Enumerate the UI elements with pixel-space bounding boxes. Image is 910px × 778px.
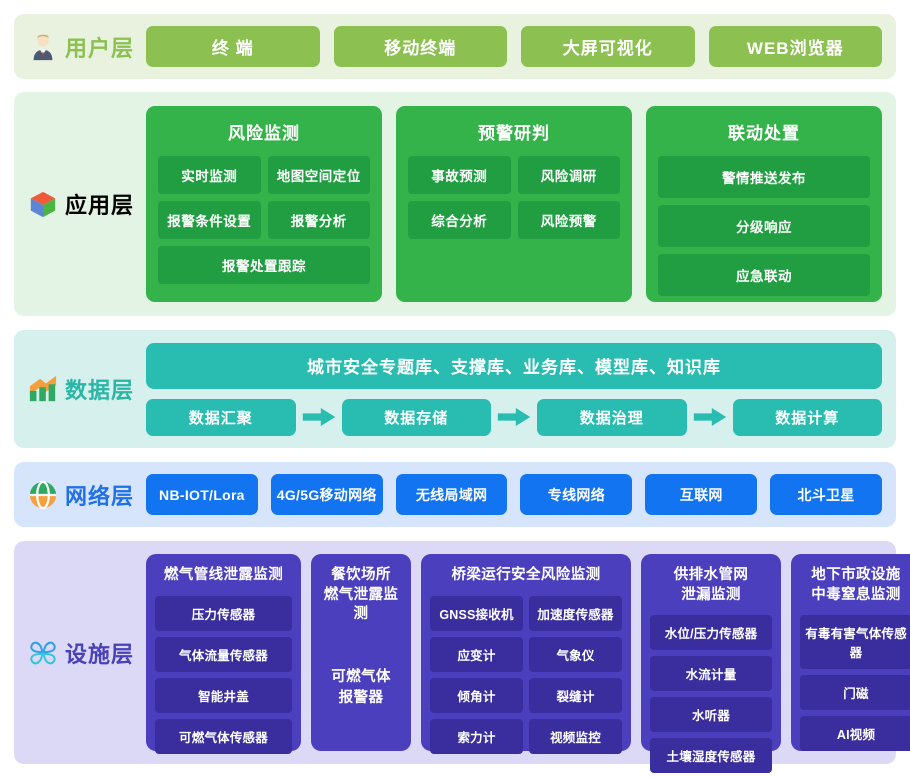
layer-band-application: 应用层 风险监测 实时监测 地图空间定位 报警条件设置 报警分析 报警处置跟踪 … <box>14 92 896 316</box>
network-chip-wireless-lan[interactable]: 无线局域网 <box>396 474 508 515</box>
network-chip-list: NB-IOT/Lora 4G/5G移动网络 无线局域网 专线网络 互联网 北斗卫… <box>146 474 896 515</box>
facility-item-soil-moisture-sensor[interactable]: 土壤湿度传感器 <box>650 738 772 773</box>
network-chip-internet[interactable]: 互联网 <box>645 474 757 515</box>
data-flow-row: 数据汇聚 数据存储 数据治理 数据 <box>146 399 882 436</box>
facility-item-door-magnet[interactable]: 门磁 <box>800 675 910 710</box>
cube-icon <box>28 189 58 219</box>
data-repository-bar[interactable]: 城市安全专题库、支撑库、业务库、模型库、知识库 <box>146 343 882 389</box>
data-node-storage[interactable]: 数据存储 <box>342 399 492 436</box>
app-subitem-grid: 事故预测 风险调研 综合分析 风险预警 <box>408 156 620 239</box>
network-chip-beidou-satellite[interactable]: 北斗卫星 <box>770 474 882 515</box>
facility-item-list: 压力传感器 气体流量传感器 智能井盖 可燃气体传感器 <box>155 596 292 754</box>
facility-item-water-flow-metering[interactable]: 水流计量 <box>650 656 772 691</box>
layer-band-data: 数据层 城市安全专题库、支撑库、业务库、模型库、知识库 数据汇聚 数据存储 数据… <box>14 330 896 448</box>
layer-band-user: 用户层 终 端 移动终端 大屏可视化 WEB浏览器 <box>14 14 896 79</box>
layer-label-user-text: 用户层 <box>65 31 134 63</box>
facility-item-video-surveillance[interactable]: 视频监控 <box>529 719 622 754</box>
data-node-computation[interactable]: 数据计算 <box>733 399 883 436</box>
user-chip-terminal[interactable]: 终 端 <box>146 26 320 67</box>
facility-column-title: 燃气管线泄露监测 <box>155 563 292 590</box>
facility-item-list: GNSS接收机 加速度传感器 应变计 气象仪 倾角计 裂缝计 索力计 视频监控 <box>430 596 622 754</box>
layer-label-facility-text: 设施层 <box>65 637 134 669</box>
layer-label-network: 网络层 <box>14 479 146 511</box>
flow-arrow-right-icon <box>296 406 342 428</box>
facility-column-underground-municipal-poisoning-asphyxia-monitoring: 地下市政设施中毒窒息监测 有毒有害气体传感器 门磁 AI视频 <box>791 554 910 751</box>
layer-band-facility: 设施层 燃气管线泄露监测 压力传感器 气体流量传感器 智能井盖 可燃气体传感器 … <box>14 541 896 764</box>
app-item-risk-research[interactable]: 风险调研 <box>518 156 621 194</box>
app-column-title: 联动处置 <box>658 115 870 149</box>
data-layer-content: 城市安全专题库、支撑库、业务库、模型库、知识库 数据汇聚 数据存储 数据治理 <box>146 332 896 447</box>
facility-item-gas-flow-sensor[interactable]: 气体流量传感器 <box>155 637 292 672</box>
flow-arrow-right-icon <box>491 406 537 428</box>
facility-item-ai-video[interactable]: AI视频 <box>800 716 910 751</box>
facility-item-weather-instrument[interactable]: 气象仪 <box>529 637 622 672</box>
data-node-governance[interactable]: 数据治理 <box>537 399 687 436</box>
facility-item-water-level-pressure-sensor[interactable]: 水位/压力传感器 <box>650 615 772 650</box>
facility-item-acceleration-sensor[interactable]: 加速度传感器 <box>529 596 622 631</box>
app-column-title: 风险监测 <box>158 115 370 149</box>
bar-chart-icon <box>28 374 58 404</box>
data-node-aggregation[interactable]: 数据汇聚 <box>146 399 296 436</box>
facility-column-title: 供排水管网泄漏监测 <box>650 563 772 609</box>
clover-icon <box>28 638 58 668</box>
network-chip-4g-5g-mobile[interactable]: 4G/5G移动网络 <box>271 474 383 515</box>
facility-column-water-supply-drainage-leak-monitoring: 供排水管网泄漏监测 水位/压力传感器 水流计量 水听器 土壤湿度传感器 <box>641 554 781 751</box>
layer-label-user: 用户层 <box>14 31 146 63</box>
app-item-realtime-monitoring[interactable]: 实时监测 <box>158 156 261 194</box>
user-avatar-icon <box>28 32 58 62</box>
flow-arrow-right-icon <box>687 406 733 428</box>
facility-item-toxic-harmful-gas-sensor[interactable]: 有毒有害气体传感器 <box>800 615 910 669</box>
app-column-early-warning-judgment: 预警研判 事故预测 风险调研 综合分析 风险预警 <box>396 106 632 302</box>
app-subitem-grid: 警情推送发布 分级响应 应急联动 <box>658 156 870 296</box>
facility-item-list: 水位/压力传感器 水流计量 水听器 土壤湿度传感器 <box>650 615 772 773</box>
facility-column-title: 餐饮场所燃气泄露监测 <box>320 563 402 629</box>
layer-label-network-text: 网络层 <box>65 479 134 511</box>
app-item-alarm-push-release[interactable]: 警情推送发布 <box>658 156 870 198</box>
facility-item-gnss-receiver[interactable]: GNSS接收机 <box>430 596 523 631</box>
facility-column-gas-pipeline-leak-monitoring: 燃气管线泄露监测 压力传感器 气体流量传感器 智能井盖 可燃气体传感器 <box>146 554 301 751</box>
application-columns: 风险监测 实时监测 地图空间定位 报警条件设置 报警分析 报警处置跟踪 预警研判… <box>146 92 896 316</box>
facility-item-hydrophone[interactable]: 水听器 <box>650 697 772 732</box>
app-item-comprehensive-analysis[interactable]: 综合分析 <box>408 201 511 239</box>
network-chip-dedicated-line[interactable]: 专线网络 <box>520 474 632 515</box>
app-item-graded-response[interactable]: 分级响应 <box>658 205 870 247</box>
facility-item-combustible-gas-sensor[interactable]: 可燃气体传感器 <box>155 719 292 754</box>
layer-label-facility: 设施层 <box>14 541 146 764</box>
architecture-diagram: 用户层 终 端 移动终端 大屏可视化 WEB浏览器 应用层 风险监测 <box>0 0 910 778</box>
facility-item-smart-manhole-cover[interactable]: 智能井盖 <box>155 678 292 713</box>
user-chip-large-screen-visualization[interactable]: 大屏可视化 <box>521 26 695 67</box>
app-column-linkage-disposal: 联动处置 警情推送发布 分级响应 应急联动 <box>646 106 882 302</box>
facility-columns: 燃气管线泄露监测 压力传感器 气体流量传感器 智能井盖 可燃气体传感器 餐饮场所… <box>146 541 910 764</box>
app-item-alarm-handling-tracking[interactable]: 报警处置跟踪 <box>158 246 370 284</box>
layer-label-application: 应用层 <box>14 188 146 220</box>
user-chip-mobile-terminal[interactable]: 移动终端 <box>334 26 508 67</box>
app-item-map-spatial-positioning[interactable]: 地图空间定位 <box>268 156 371 194</box>
user-chip-list: 终 端 移动终端 大屏可视化 WEB浏览器 <box>146 26 896 67</box>
facility-column-title: 桥梁运行安全风险监测 <box>430 563 622 590</box>
layer-band-network: 网络层 NB-IOT/Lora 4G/5G移动网络 无线局域网 专线网络 互联网… <box>14 462 896 527</box>
app-subitem-grid: 实时监测 地图空间定位 报警条件设置 报警分析 报警处置跟踪 <box>158 156 370 284</box>
app-item-emergency-linkage[interactable]: 应急联动 <box>658 254 870 296</box>
app-item-accident-prediction[interactable]: 事故预测 <box>408 156 511 194</box>
network-chip-nbiot-lora[interactable]: NB-IOT/Lora <box>146 474 258 515</box>
app-column-title: 预警研判 <box>408 115 620 149</box>
facility-item-list: 有毒有害气体传感器 门磁 AI视频 <box>800 615 910 751</box>
layer-label-application-text: 应用层 <box>65 188 134 220</box>
facility-item-cable-force-gauge[interactable]: 索力计 <box>430 719 523 754</box>
facility-item-inclinometer[interactable]: 倾角计 <box>430 678 523 713</box>
facility-column-catering-gas-leak-monitoring: 餐饮场所燃气泄露监测 可燃气体报警器 <box>311 554 411 751</box>
facility-item-combustible-gas-alarm[interactable]: 可燃气体报警器 <box>320 635 402 741</box>
facility-column-title: 地下市政设施中毒窒息监测 <box>800 563 910 609</box>
facility-column-bridge-safety-risk-monitoring: 桥梁运行安全风险监测 GNSS接收机 加速度传感器 应变计 气象仪 倾角计 裂缝… <box>421 554 631 751</box>
layer-label-data: 数据层 <box>14 373 146 405</box>
layer-label-data-text: 数据层 <box>65 373 134 405</box>
user-chip-web-browser[interactable]: WEB浏览器 <box>709 26 883 67</box>
app-item-alarm-condition-setting[interactable]: 报警条件设置 <box>158 201 261 239</box>
app-item-risk-early-warning[interactable]: 风险预警 <box>518 201 621 239</box>
facility-item-strain-gauge[interactable]: 应变计 <box>430 637 523 672</box>
app-column-risk-monitoring: 风险监测 实时监测 地图空间定位 报警条件设置 报警分析 报警处置跟踪 <box>146 106 382 302</box>
globe-icon <box>28 480 58 510</box>
app-item-alarm-analysis[interactable]: 报警分析 <box>268 201 371 239</box>
facility-item-crack-gauge[interactable]: 裂缝计 <box>529 678 622 713</box>
facility-item-pressure-sensor[interactable]: 压力传感器 <box>155 596 292 631</box>
